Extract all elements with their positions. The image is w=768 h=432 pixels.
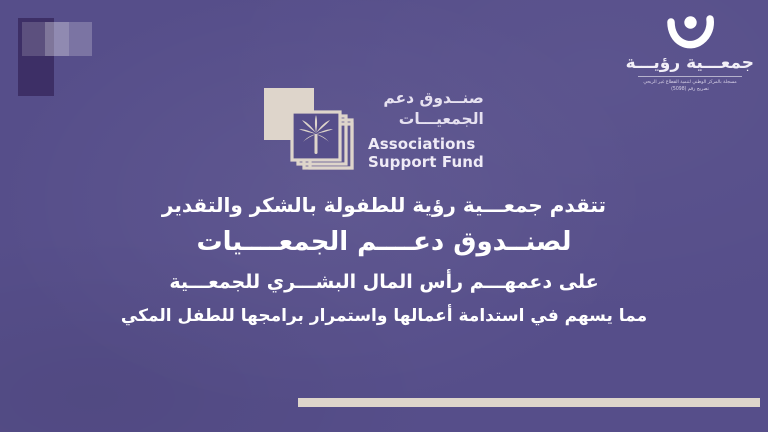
palm-tree-squares-emblem-icon [262,86,354,172]
decor-rect-light [45,22,92,56]
corner-decoration [0,0,150,130]
associations-support-fund-logo: صنــدوق دعم الجمعيـــات Associations Sup… [262,86,486,174]
thank-you-card: جمعـــية رؤيـــة مسجلة بالمركز الوطني لت… [0,0,768,432]
asf-arabic-line-2: الجمعيـــات [368,109,484,130]
message-line-3: على دعمهـــم رأس المال البشـــري للجمعــ… [0,268,768,297]
ruya-wordmark: جمعـــية رؤيـــة [626,54,754,73]
bottom-accent-bar [298,398,760,407]
message-line-1: تتقدم جمعـــية رؤية للطفولة بالشكر والتق… [0,190,768,220]
ruya-divider [638,76,742,77]
asf-arabic-line-1: صنــدوق دعم [368,88,484,109]
ruya-association-logo: جمعـــية رؤيـــة مسجلة بالمركز الوطني لت… [626,8,754,93]
thank-you-message: تتقدم جمعـــية رؤية للطفولة بالشكر والتق… [0,190,768,329]
ruya-smile-mark-icon [662,8,718,52]
asf-english-line-2: Support Fund [368,153,484,172]
asf-english-line-1: Associations [368,135,484,154]
asf-english-block: Associations Support Fund [368,135,484,173]
message-line-4: مما يسهم في استدامة أعمالها واستمرار برا… [0,304,768,330]
asf-logo-text: صنــدوق دعم الجمعيـــات Associations Sup… [368,86,484,172]
ruya-license-line: تصريح رقم (5098) [626,86,754,93]
message-line-2: لصنــدوق دعــــم الجمعــــيات [0,222,768,262]
